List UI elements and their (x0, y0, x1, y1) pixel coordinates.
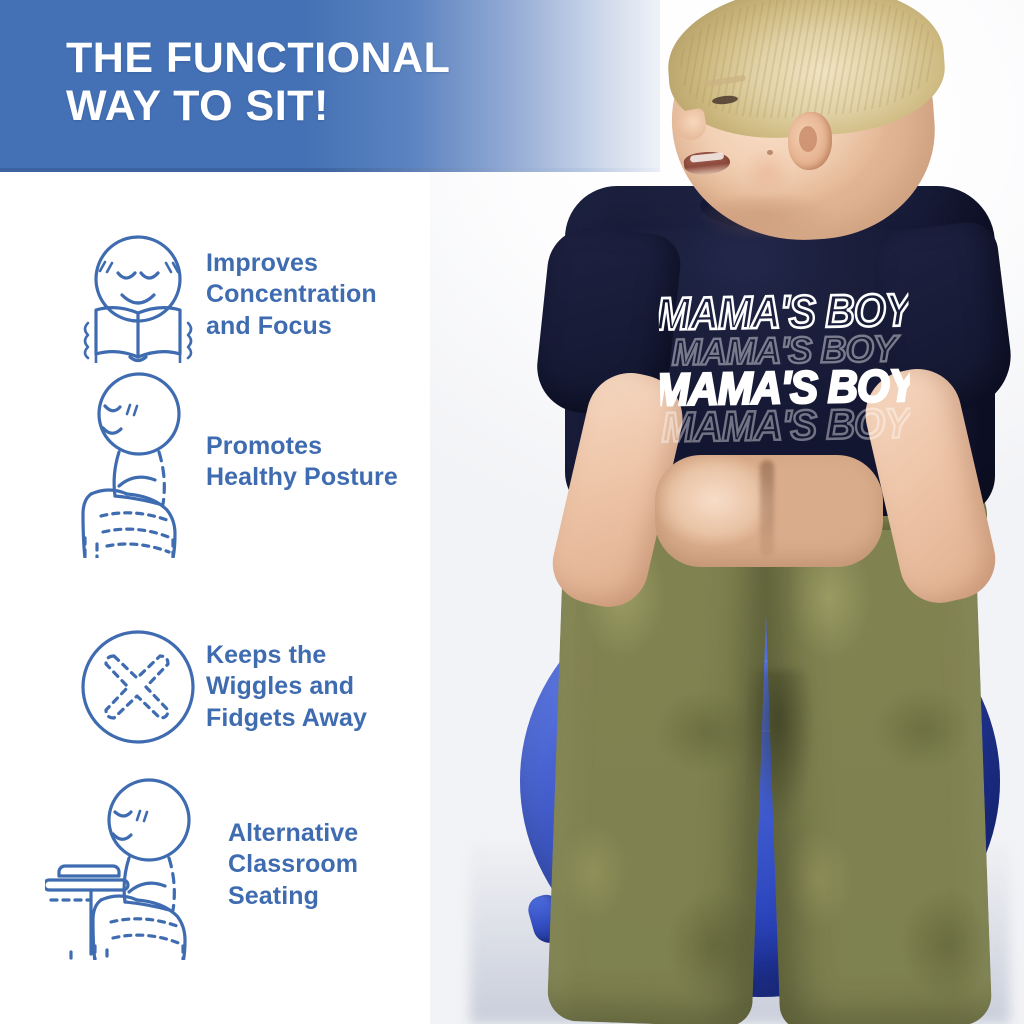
feature-label: Promotes Healthy Posture (206, 431, 398, 494)
sitting-posture-icon (73, 366, 203, 558)
chin-shadow (700, 196, 830, 240)
feature-icon-wrap (42, 770, 228, 960)
child-cheek (740, 150, 794, 194)
feature-icon-wrap (70, 387, 206, 537)
pant-crease-shadow (736, 670, 822, 920)
child-mole (767, 150, 773, 155)
feature-label: Keeps the Wiggles and Fidgets Away (206, 640, 367, 735)
tshirt-print-line: MAMA'S BOY (661, 405, 910, 448)
ball-logo-clip: Lakik Every kid belongs, grows (700, 805, 905, 867)
feature-icon-wrap (70, 612, 206, 762)
feature-list: Improves Concentration and Focus (0, 172, 470, 1024)
feature-item-classroom: Alternative Classroom Seating (42, 770, 462, 960)
feature-label: Alternative Classroom Seating (228, 818, 358, 913)
no-wiggles-x-circle-icon (77, 626, 199, 748)
feature-item-posture: Promotes Healthy Posture (70, 387, 490, 537)
page-title: THE FUNCTIONAL WAY TO SIT! (66, 34, 450, 130)
child-ear-inner (799, 126, 817, 152)
header-banner: THE FUNCTIONAL WAY TO SIT! (0, 0, 660, 172)
reading-face-icon (78, 227, 198, 363)
feature-item-wiggles: Keeps the Wiggles and Fidgets Away (70, 612, 490, 762)
product-infographic-poster: MAMA'S BOY MAMA'S BOY MAMA'S BOY MAMA'S … (0, 0, 1024, 1024)
classroom-desk-seating-icon (45, 770, 225, 960)
feature-item-concentration: Improves Concentration and Focus (70, 220, 490, 370)
feature-label: Improves Concentration and Focus (206, 248, 377, 343)
feature-icon-wrap (70, 220, 206, 370)
tshirt-print: MAMA'S BOY MAMA'S BOY MAMA'S BOY MAMA'S … (658, 290, 911, 484)
